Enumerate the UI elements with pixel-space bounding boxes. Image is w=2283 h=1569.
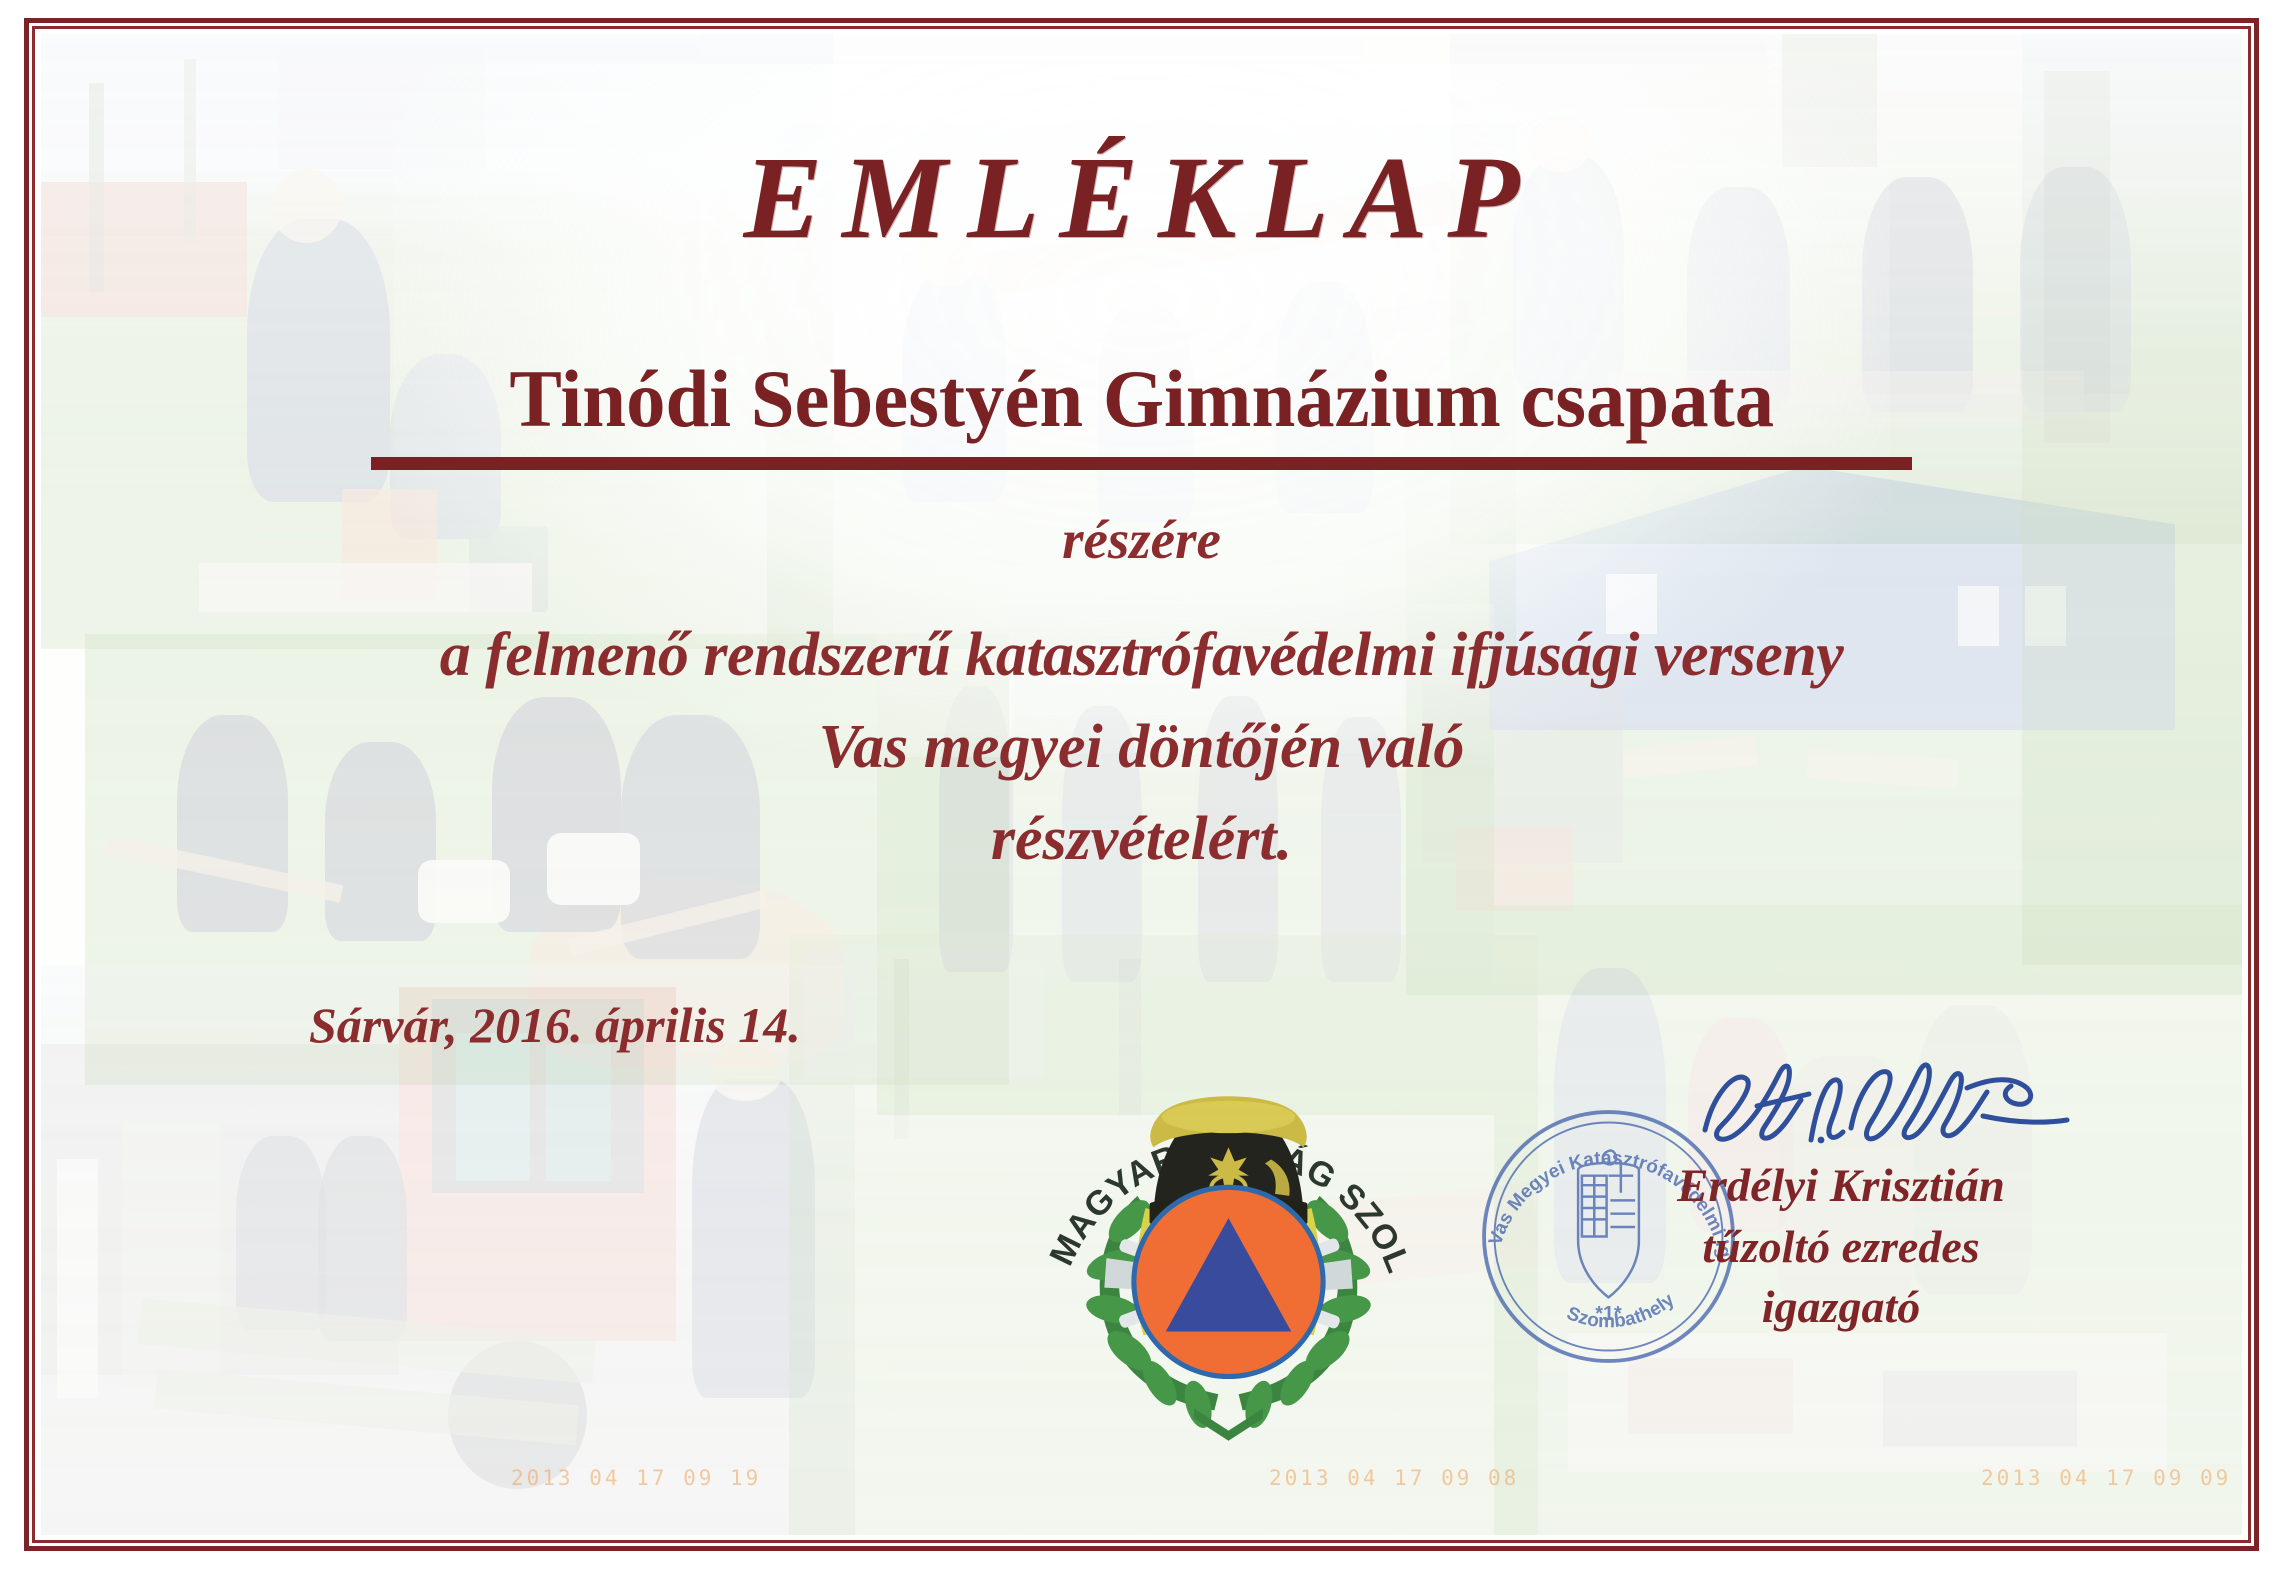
body-line-3: részvételért.: [41, 804, 2242, 875]
certificate-text-layer: EMLÉKLAP Tinódi Sebestyén Gimnázium csap…: [41, 34, 2242, 1535]
recipient-underline: [371, 457, 1912, 470]
signer-role: igazgató: [1606, 1277, 2076, 1337]
body-line-2: Vas megyei döntőjén való: [41, 712, 2242, 783]
disaster-management-emblem: MAGYARORSZÁG SZOLGÁLATÁBAN A BIZTONSÁGÉR…: [1016, 1034, 1441, 1459]
for-label: részére: [41, 508, 2242, 571]
photo-frame: 2013 04 17 09 19 2013 04 17 09 08 2013 0…: [41, 34, 2242, 1535]
civil-protection-symbol: [1131, 1185, 1325, 1379]
body-line-1: a felmenő rendszerű katasztrófavédelmi i…: [41, 620, 2242, 691]
certificate-page: 2013 04 17 09 19 2013 04 17 09 08 2013 0…: [0, 0, 2283, 1569]
signature-block: Erdélyi Krisztián tűzoltó ezredes igazga…: [1606, 1156, 2076, 1337]
signer-name: Erdélyi Krisztián: [1606, 1156, 2076, 1217]
place-and-date: Sárvár, 2016. április 14.: [309, 996, 801, 1054]
recipient-name: Tinódi Sebestyén Gimnázium csapata: [503, 352, 1779, 446]
signer-rank: tűzoltó ezredes: [1606, 1217, 2076, 1277]
page-title: EMLÉKLAP: [41, 130, 2242, 266]
recipient-name-wrapper: Tinódi Sebestyén Gimnázium csapata: [41, 352, 2242, 446]
